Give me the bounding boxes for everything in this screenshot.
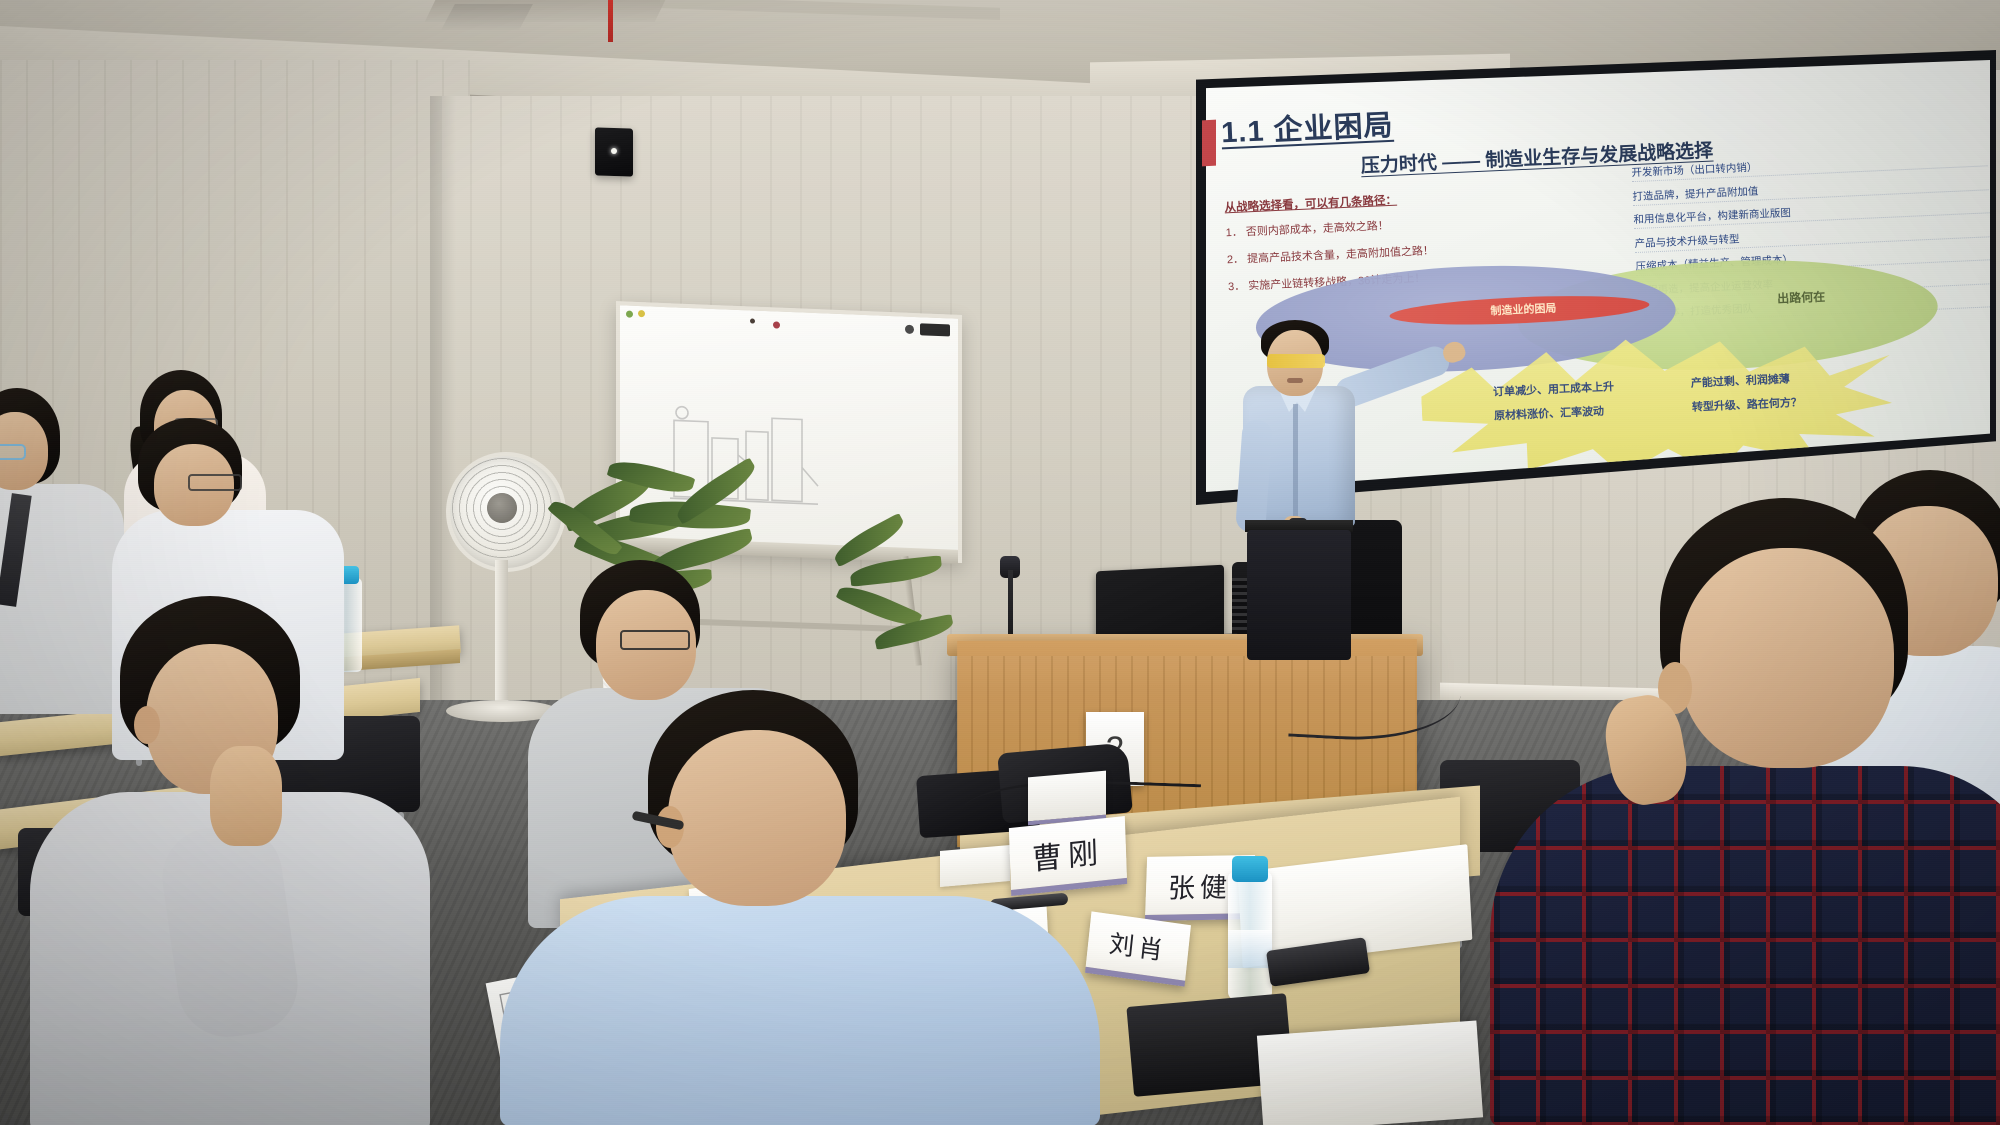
attendee-head (668, 730, 846, 906)
magnet-icon (773, 321, 780, 328)
attendee-body (1490, 766, 2000, 1125)
classroom-photo-scene: 1.1 企业困局 压力时代 —— 制造业生存与发展战略选择 从战略选择看，可以有… (0, 0, 2000, 1125)
speaker-led-icon (611, 148, 617, 154)
magnet-icon (750, 318, 755, 323)
notebook (1257, 1020, 1483, 1125)
glasses-icon (0, 444, 26, 460)
glasses-icon (1267, 354, 1325, 368)
slide-left-item: 1． 否则内部成本，走高效之路！ (1225, 209, 1575, 241)
water-bottle-cap (1232, 856, 1268, 882)
presenter-shirt-placket (1293, 404, 1298, 524)
ceiling-vent (441, 4, 533, 30)
magnet-icon (905, 325, 914, 334)
attendee-foreground-blue-shirt (560, 690, 1090, 1125)
plant-icon-secondary (820, 520, 960, 670)
screen-red-marker (1202, 120, 1216, 167)
slide-title: 1.1 企业困局 (1220, 102, 1394, 152)
glasses-icon (620, 630, 690, 650)
attendee-foreground-left (60, 596, 390, 1125)
glasses-icon (188, 474, 242, 491)
presenter (1225, 320, 1455, 660)
fan-pole (495, 560, 508, 710)
attendee-foreground-plaid (1530, 498, 2000, 1125)
attendee-body (500, 896, 1100, 1125)
water-bottle-label (1228, 930, 1272, 968)
whiteboard-eraser[interactable] (920, 323, 950, 336)
diagram-green-oval-label: 出路何在 (1777, 288, 1826, 307)
presenter-trousers (1247, 530, 1351, 660)
magnet-icon (626, 310, 633, 317)
magnet-icon (638, 310, 645, 317)
attendee-hand (210, 746, 282, 846)
slide-left-item: 2． 提高产品技术含量，走高附加值之路！ (1227, 236, 1577, 268)
attendee-ear (134, 706, 160, 744)
red-cable (608, 0, 613, 42)
fan-hub (487, 493, 517, 523)
attendee-head (1680, 548, 1894, 768)
presenter-mouth (1287, 378, 1303, 383)
